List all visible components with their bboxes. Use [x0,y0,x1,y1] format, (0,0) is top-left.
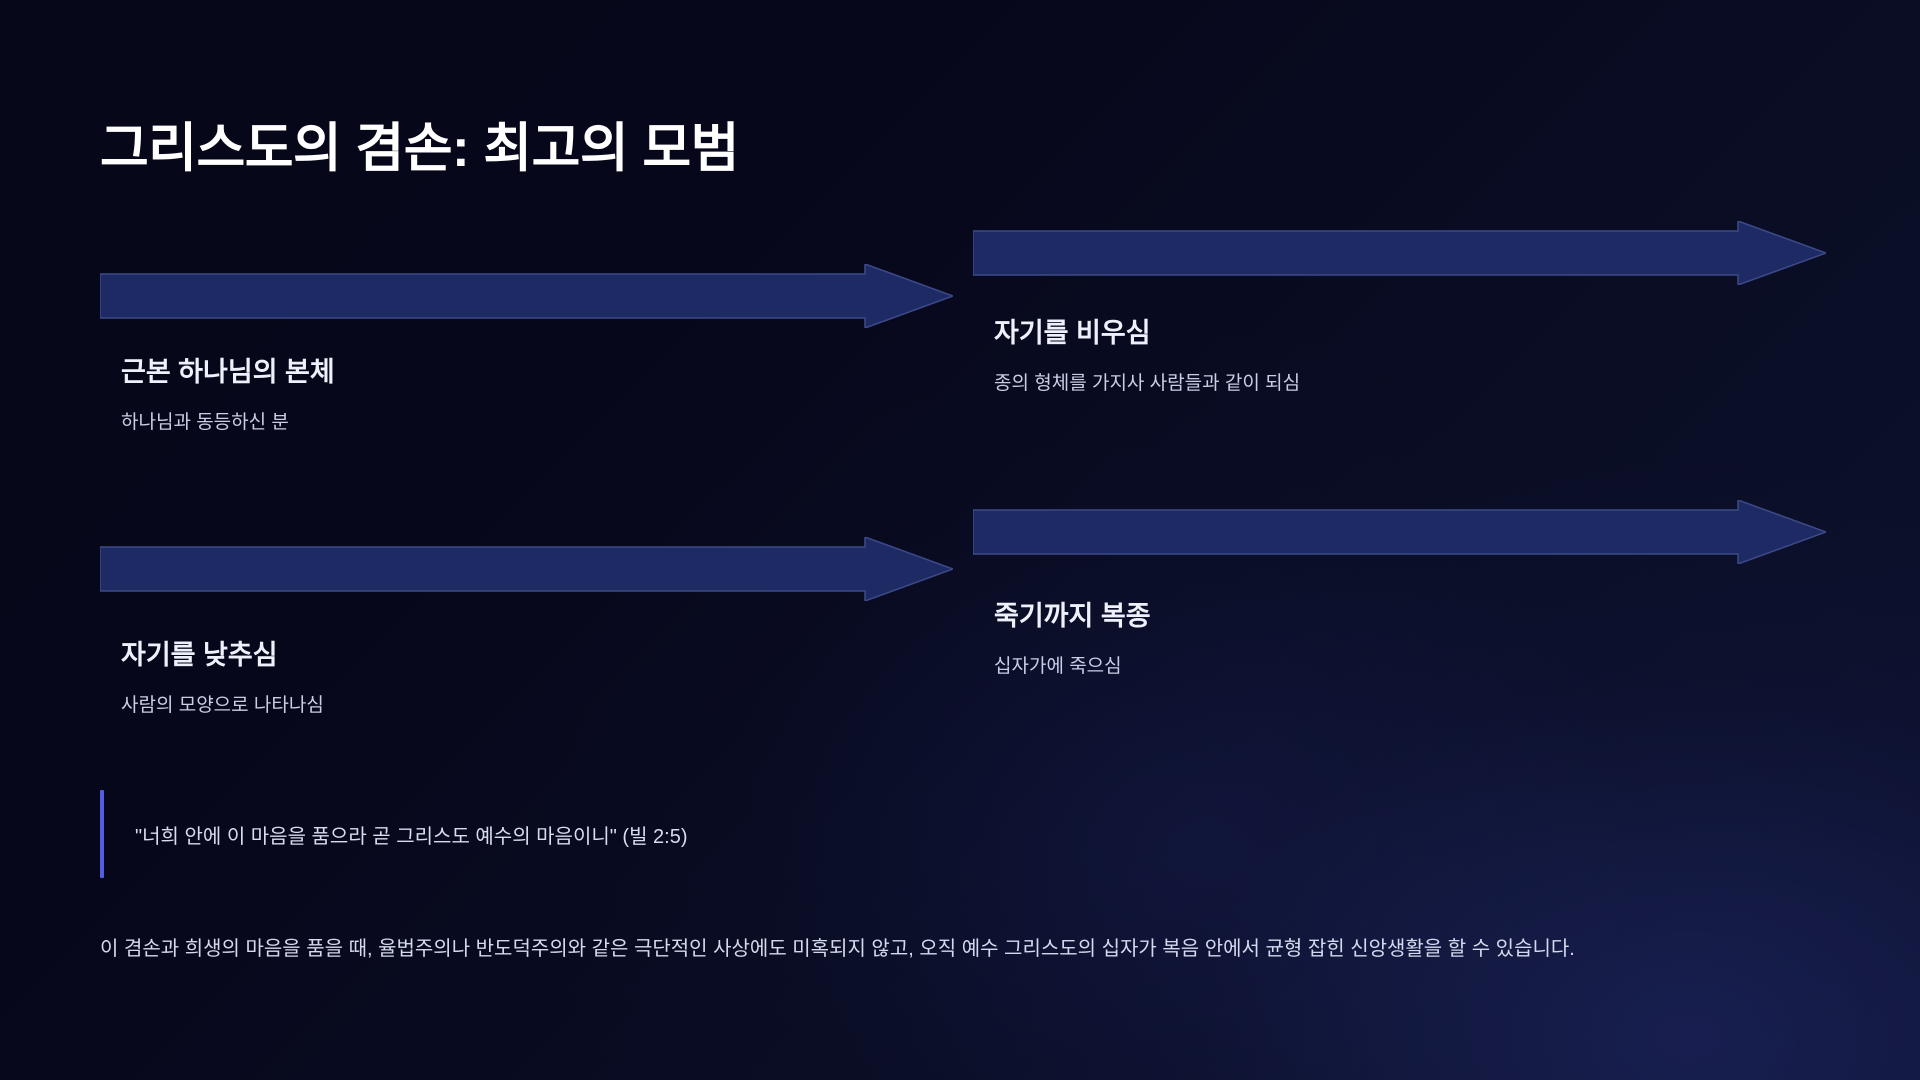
stage-block-3: 자기를 낮추심 사람의 모양으로 나타나심 [121,633,324,717]
stage-title-1: 근본 하나님의 본체 [121,350,335,389]
stage-subtitle-4: 십자가에 죽으심 [994,651,1151,678]
stage-subtitle-3: 사람의 모양으로 나타나심 [121,690,324,717]
page-title: 그리스도의 겸손: 최고의 모범 [100,106,739,182]
stage-subtitle-1: 하나님과 동등하신 분 [121,407,335,434]
scripture-quote: "너희 안에 이 마음을 품으라 곧 그리스도 예수의 마음이니" (빌 2:5… [100,790,688,878]
quote-text: "너희 안에 이 마음을 품으라 곧 그리스도 예수의 마음이니" (빌 2:5… [135,820,688,849]
stage-title-3: 자기를 낮추심 [121,633,324,672]
stage-block-1: 근본 하나님의 본체 하나님과 동등하신 분 [121,350,335,434]
stage-subtitle-2: 종의 형체를 가지사 사람들과 같이 되심 [994,368,1300,395]
stage-arrow-2 [973,221,1826,285]
stage-title-2: 자기를 비우심 [994,311,1300,350]
stage-title-4: 죽기까지 복종 [994,594,1151,633]
slide-canvas: 그리스도의 겸손: 최고의 모범 근본 하나님의 본체 하나님과 동등하신 분 … [0,0,1920,1080]
stage-arrow-4 [973,500,1826,564]
stage-arrow-1 [100,264,953,328]
stage-block-2: 자기를 비우심 종의 형체를 가지사 사람들과 같이 되심 [994,311,1300,395]
stage-block-4: 죽기까지 복종 십자가에 죽으심 [994,594,1151,678]
closing-paragraph: 이 겸손과 희생의 마음을 품을 때, 율법주의나 반도덕주의와 같은 극단적인… [100,933,1812,965]
stage-arrow-3 [100,537,953,601]
quote-accent-bar [100,790,104,878]
